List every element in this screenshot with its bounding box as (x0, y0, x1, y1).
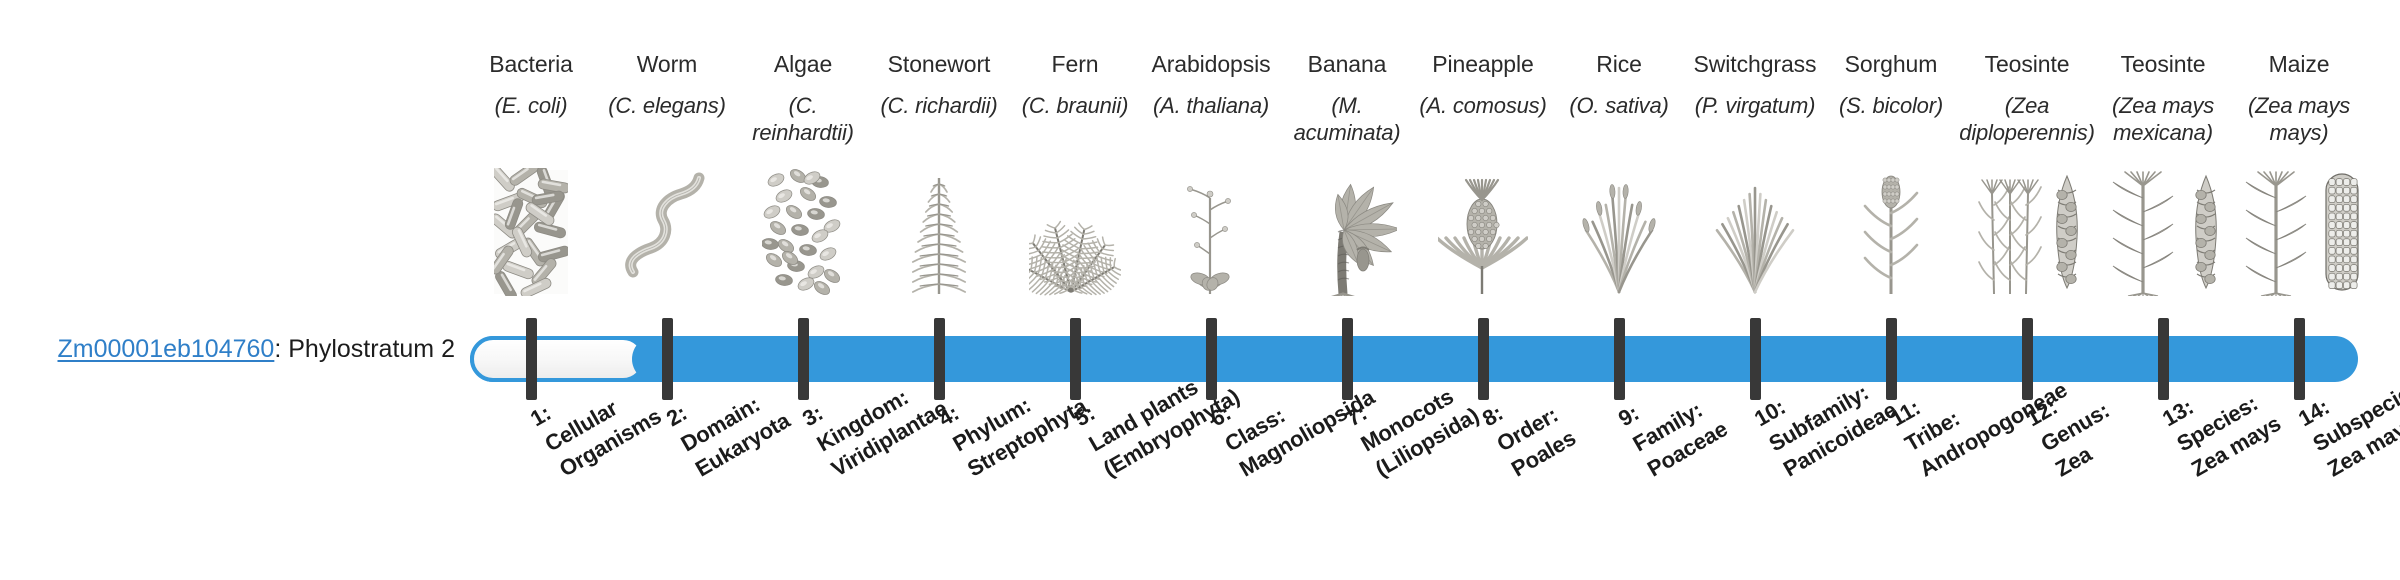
species-common-name: Rice (1551, 50, 1687, 79)
gene-phylostratum-value: Phylostratum 2 (288, 335, 455, 363)
species-column-4: Stonewort(C. richardii) (871, 50, 1007, 120)
species-scientific-name: (C. reinhardtii) (735, 93, 871, 147)
species-column-6: Arabidopsis(A. thaliana) (1143, 50, 1279, 120)
species-scientific-name: (E. coli) (463, 93, 599, 120)
phylostratum-tick-11[interactable] (1886, 318, 1897, 400)
species-column-7: Banana(M. acuminata) (1279, 50, 1415, 146)
species-common-name: Algae (735, 50, 871, 79)
species-scientific-name: (C. richardii) (871, 93, 1007, 120)
species-scientific-name: (C. elegans) (599, 93, 735, 120)
species-column-12: Teosinte(Zea diploperennis) (1959, 50, 2095, 146)
phylostratum-tick-5[interactable] (1070, 318, 1081, 400)
species-scientific-name: (A. comosus) (1415, 93, 1551, 120)
phylostratigraphy-timeline-figure: Zm00001eb104760: Phylostratum 2 Bacteria… (0, 0, 2400, 580)
gene-phylostratum-label: Zm00001eb104760: Phylostratum 2 (0, 334, 455, 364)
species-common-name: Maize (2231, 50, 2367, 79)
species-common-name: Fern (1007, 50, 1143, 79)
species-common-name: Bacteria (463, 50, 599, 79)
species-common-name: Worm (599, 50, 735, 79)
species-common-name: Teosinte (1959, 50, 2095, 79)
phylostratum-tick-9[interactable] (1614, 318, 1625, 400)
species-scientific-name: (M. acuminata) (1279, 93, 1415, 147)
species-scientific-name: (C. braunii) (1007, 93, 1143, 120)
species-scientific-name: (S. bicolor) (1823, 93, 1959, 120)
species-column-13: Teosinte(Zea mays mexicana) (2095, 50, 2231, 146)
phylostratum-tick-4[interactable] (934, 318, 945, 400)
worm-illustration (592, 168, 742, 296)
species-column-5: Fern(C. braunii) (1007, 50, 1143, 120)
phylostratum-tick-3[interactable] (798, 318, 809, 400)
species-common-name: Stonewort (871, 50, 1007, 79)
species-scientific-name: (Zea mays mexicana) (2095, 93, 2231, 147)
phylostratum-tick-6[interactable] (1206, 318, 1217, 400)
species-common-name: Teosinte (2095, 50, 2231, 79)
species-column-11: Sorghum(S. bicolor) (1823, 50, 1959, 120)
species-column-2: Worm(C. elegans) (599, 50, 735, 120)
species-common-name: Switchgrass (1687, 50, 1823, 79)
species-column-10: Switchgrass(P. virgatum) (1687, 50, 1823, 120)
species-column-8: Pineapple(A. comosus) (1415, 50, 1551, 120)
species-common-name: Pineapple (1415, 50, 1551, 79)
species-scientific-name: (A. thaliana) (1143, 93, 1279, 120)
phylostratum-tick-10[interactable] (1750, 318, 1761, 400)
species-common-name: Arabidopsis (1143, 50, 1279, 79)
species-column-1: Bacteria(E. coli) (463, 50, 599, 120)
gene-id-link[interactable]: Zm00001eb104760 (57, 335, 274, 363)
phylostratum-tick-12[interactable] (2022, 318, 2033, 400)
phylostratum-tick-7[interactable] (1342, 318, 1353, 400)
species-scientific-name: (P. virgatum) (1687, 93, 1823, 120)
species-column-14: Maize(Zea mays mays) (2231, 50, 2367, 146)
phylostratum-tick-1[interactable] (526, 318, 537, 400)
bacteria-illustration (456, 168, 606, 296)
species-column-3: Algae(C. reinhardtii) (735, 50, 871, 146)
gene-label-separator: : (274, 335, 288, 363)
phylostratum-tick-2[interactable] (662, 318, 673, 400)
species-scientific-name: (Zea mays mays) (2231, 93, 2367, 147)
phylostratum-tick-8[interactable] (1478, 318, 1489, 400)
species-scientific-name: (Zea diploperennis) (1959, 93, 2095, 147)
species-common-name: Sorghum (1823, 50, 1959, 79)
species-scientific-name: (O. sativa) (1551, 93, 1687, 120)
phylostratum-tick-13[interactable] (2158, 318, 2169, 400)
phylostratum-tick-14[interactable] (2294, 318, 2305, 400)
species-column-9: Rice(O. sativa) (1551, 50, 1687, 120)
species-common-name: Banana (1279, 50, 1415, 79)
